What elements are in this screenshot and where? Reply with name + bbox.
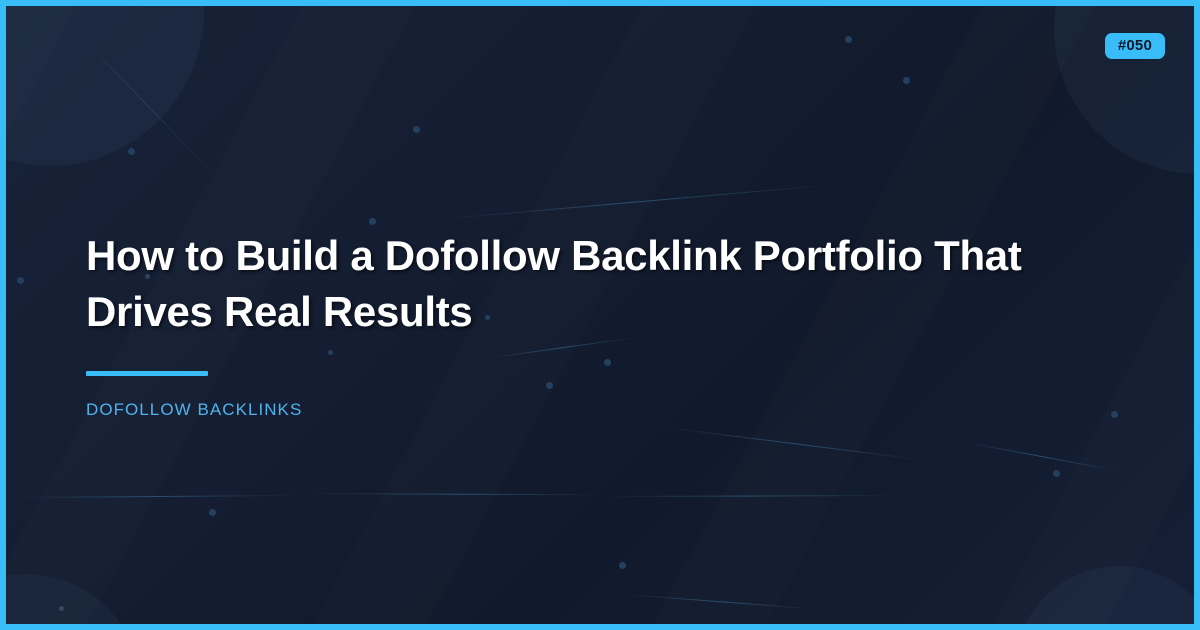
decorative-dot	[1053, 470, 1060, 477]
decorative-dot	[209, 509, 216, 516]
decorative-dot	[128, 148, 135, 155]
decorative-dot	[59, 606, 64, 611]
accent-bar-divider	[86, 371, 208, 376]
issue-number-badge: #050	[1105, 33, 1165, 59]
category-label: DOFOLLOW BACKLINKS	[86, 400, 1066, 420]
social-share-card: #050 How to Build a Dofollow Backlink Po…	[0, 0, 1200, 630]
card-content: How to Build a Dofollow Backlink Portfol…	[86, 228, 1066, 420]
page-title: How to Build a Dofollow Backlink Portfol…	[86, 228, 1046, 340]
decorative-dot	[1111, 411, 1118, 418]
decorative-dot	[845, 36, 852, 43]
decorative-dot	[619, 562, 626, 569]
decorative-dot	[903, 77, 910, 84]
decorative-dot	[369, 218, 376, 225]
decorative-dot	[413, 126, 420, 133]
decorative-dot	[17, 277, 24, 284]
